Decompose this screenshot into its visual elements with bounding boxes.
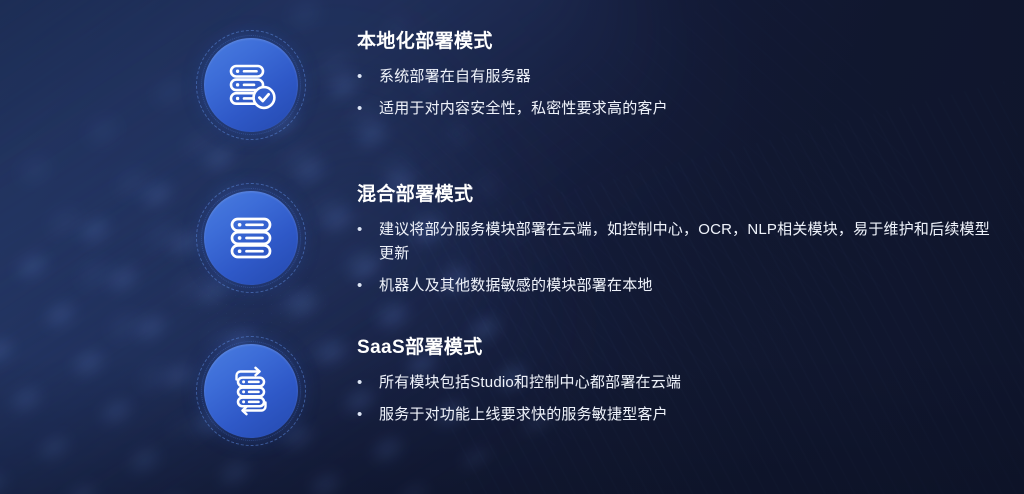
bullet-marker: • bbox=[357, 65, 379, 89]
bullet-text: 服务于对功能上线要求快的服务敏捷型客户 bbox=[379, 403, 997, 427]
section-icon-badge bbox=[196, 183, 306, 293]
section-text: 混合部署模式 • 建议将部分服务模块部署在云端，如控制中心，OCR，NLP相关模… bbox=[357, 183, 997, 307]
bullet-text: 所有模块包括Studio和控制中心都部署在云端 bbox=[379, 371, 997, 395]
section-text: 本地化部署模式 • 系统部署在自有服务器 • 适用于对内容安全性，私密性要求高的… bbox=[357, 30, 997, 129]
bullet-item: • 建议将部分服务模块部署在云端，如控制中心，OCR，NLP相关模块，易于维护和… bbox=[357, 218, 997, 267]
bullet-marker: • bbox=[357, 371, 379, 395]
bullet-item: • 服务于对功能上线要求快的服务敏捷型客户 bbox=[357, 403, 997, 427]
bullet-text: 系统部署在自有服务器 bbox=[379, 65, 997, 89]
section-icon-badge bbox=[196, 30, 306, 140]
bullet-marker: • bbox=[357, 97, 379, 121]
section-text: SaaS部署模式 • 所有模块包括Studio和控制中心都部署在云端 • 服务于… bbox=[357, 336, 997, 435]
bullet-marker: • bbox=[357, 218, 379, 242]
server-stack-check-icon bbox=[223, 57, 279, 113]
section-icon-badge bbox=[196, 336, 306, 446]
bullet-item: • 机器人及其他数据敏感的模块部署在本地 bbox=[357, 274, 997, 298]
bullet-text: 适用于对内容安全性，私密性要求高的客户 bbox=[379, 97, 997, 121]
bullet-text: 机器人及其他数据敏感的模块部署在本地 bbox=[379, 274, 997, 298]
section-bullets: • 所有模块包括Studio和控制中心都部署在云端 • 服务于对功能上线要求快的… bbox=[357, 371, 997, 428]
server-stack-sync-icon bbox=[223, 363, 279, 419]
bullet-item: • 所有模块包括Studio和控制中心都部署在云端 bbox=[357, 371, 997, 395]
section-bullets: • 系统部署在自有服务器 • 适用于对内容安全性，私密性要求高的客户 bbox=[357, 65, 997, 122]
bullet-item: • 适用于对内容安全性，私密性要求高的客户 bbox=[357, 97, 997, 121]
section-heading: SaaS部署模式 bbox=[357, 336, 997, 360]
bullet-item: • 系统部署在自有服务器 bbox=[357, 65, 997, 89]
section-heading: 本地化部署模式 bbox=[357, 30, 997, 54]
bullet-marker: • bbox=[357, 403, 379, 427]
section-bullets: • 建议将部分服务模块部署在云端，如控制中心，OCR，NLP相关模块，易于维护和… bbox=[357, 218, 997, 299]
server-stack-icon bbox=[225, 212, 277, 264]
slide-canvas: 本地化部署模式 • 系统部署在自有服务器 • 适用于对内容安全性，私密性要求高的… bbox=[0, 0, 1024, 494]
bullet-marker: • bbox=[357, 274, 379, 298]
section-heading: 混合部署模式 bbox=[357, 183, 997, 207]
badge-disc bbox=[204, 344, 298, 438]
badge-disc bbox=[204, 38, 298, 132]
sections-list: 本地化部署模式 • 系统部署在自有服务器 • 适用于对内容安全性，私密性要求高的… bbox=[0, 0, 1024, 494]
bullet-text: 建议将部分服务模块部署在云端，如控制中心，OCR，NLP相关模块，易于维护和后续… bbox=[379, 218, 997, 267]
badge-disc bbox=[204, 191, 298, 285]
